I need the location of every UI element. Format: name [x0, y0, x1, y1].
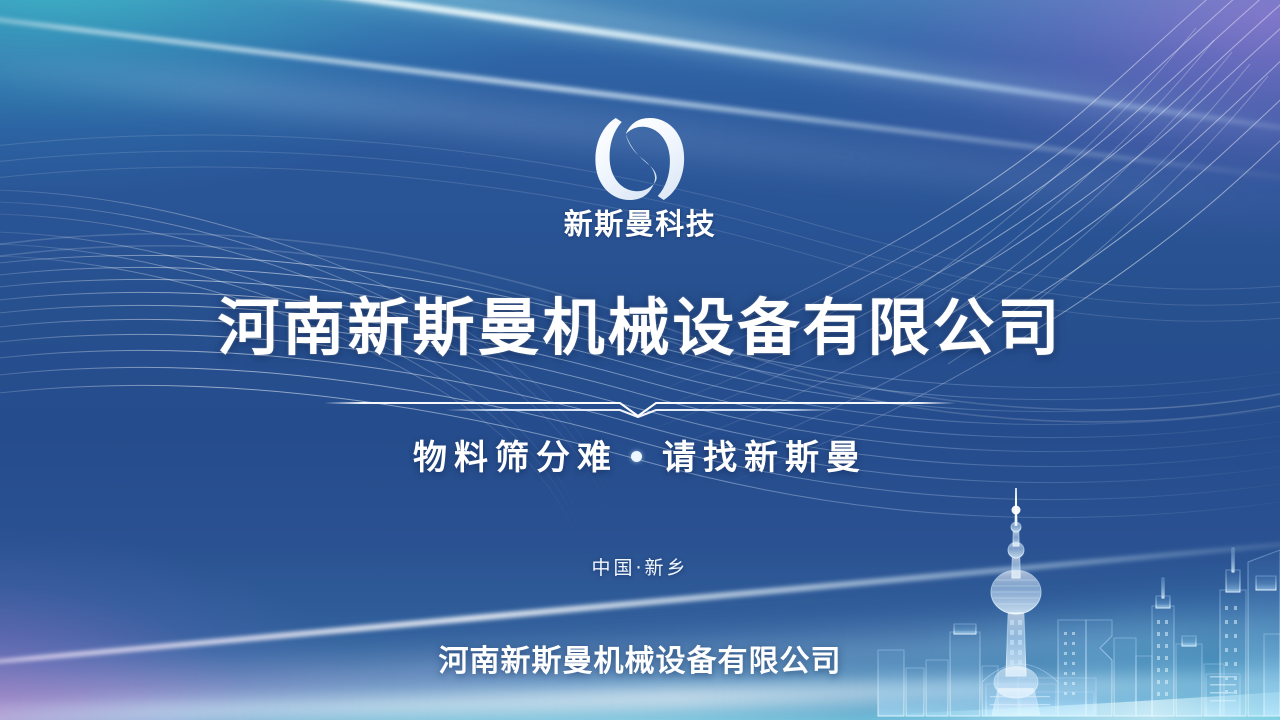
brand-logo: 新斯曼科技 — [564, 112, 717, 239]
location-label: 中国·新乡 — [0, 553, 1280, 580]
tagline-left: 物料筛分难 — [413, 438, 618, 478]
ornamental-v-divider — [320, 396, 960, 418]
presentation-slide: 新斯曼科技 河南新斯曼机械设备有限公司 — [0, 0, 1280, 720]
page-title: 河南新斯曼机械设备有限公司 — [0, 295, 1280, 362]
tagline-separator-dot — [631, 451, 642, 462]
tagline-right: 请找新斯曼 — [662, 438, 867, 478]
brand-wordmark: 新斯曼科技 — [564, 210, 717, 239]
slide-content: 新斯曼科技 河南新斯曼机械设备有限公司 — [0, 0, 1280, 720]
interlocking-s-monogram-icon — [586, 112, 694, 206]
footer-company-name: 河南新斯曼机械设备有限公司 — [0, 636, 1280, 680]
tagline: 物料筛分难请找新斯曼 — [0, 430, 1280, 479]
